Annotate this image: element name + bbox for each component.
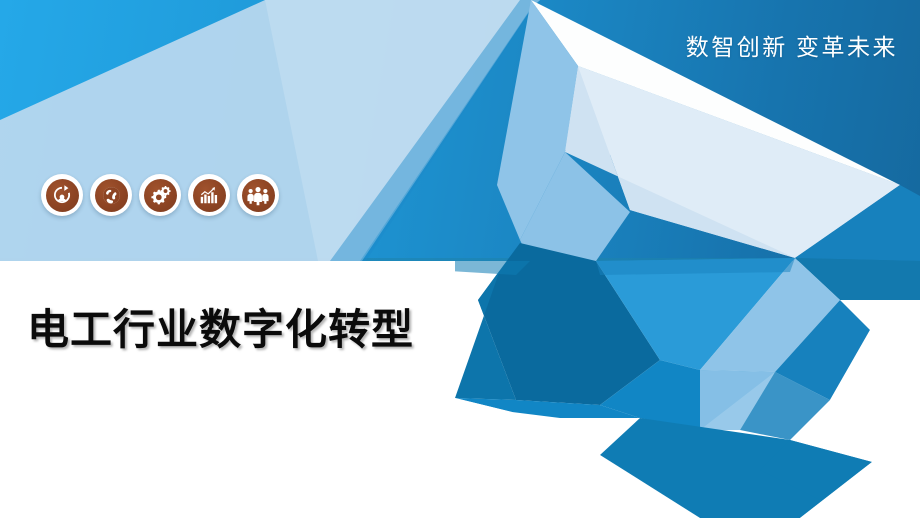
icon-badge-gears[interactable] bbox=[139, 174, 181, 216]
bar-chart-icon bbox=[193, 179, 226, 212]
globe-icon bbox=[95, 179, 128, 212]
icon-badge-bar-chart[interactable] bbox=[188, 174, 230, 216]
team-icon bbox=[242, 179, 275, 212]
icon-badge-team[interactable] bbox=[237, 174, 279, 216]
growth-arrow-icon bbox=[46, 179, 79, 212]
icon-row bbox=[41, 174, 279, 216]
page-title: 电工行业数字化转型 bbox=[27, 296, 414, 357]
icon-badge-growth-arrow[interactable] bbox=[41, 174, 83, 216]
slide-tagline: 数智创新 变革未来 bbox=[686, 28, 898, 62]
presentation-slide: 数智创新 变革未来 bbox=[0, 0, 920, 518]
gears-icon bbox=[144, 179, 177, 212]
icon-badge-globe[interactable] bbox=[90, 174, 132, 216]
low-poly-geometric-graphic bbox=[0, 0, 920, 518]
